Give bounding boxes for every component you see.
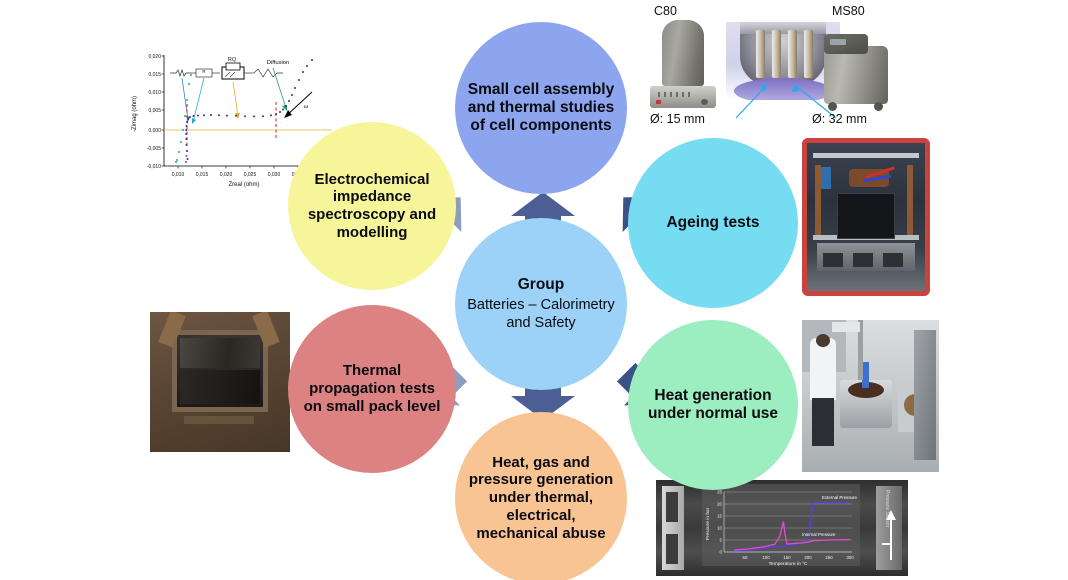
c80-diameter-label: Ø: 15 mm [650,112,705,126]
bubble-thermal-propagation[interactable]: Thermal propagation tests on small pack … [288,305,456,473]
svg-text:50: 50 [743,555,748,560]
bubble-eis[interactable]: Electrochemical impedance spectroscopy a… [288,122,456,290]
svg-text:150: 150 [783,555,791,560]
bubble-abuse-testing[interactable]: Heat, gas and pressure generation under … [455,412,627,580]
svg-text:ω: ω [304,104,308,110]
bubble-heat-generation[interactable]: Heat generation under normal use [628,320,798,490]
pressure-ylabel: Pressure in bar [705,507,711,540]
slide-canvas: 0,020 0,015 0,010 0,005 0,000 -0,005 -0,… [0,0,1068,580]
annotation-diffusion: Diffusion [267,60,289,66]
bubble-heat-generation-label: Heat generation under normal use [628,387,798,424]
bubble-eis-label: Electrochemical impedance spectroscopy a… [288,171,456,242]
svg-text:25: 25 [717,490,722,495]
annotation-rq: RQ [228,57,237,63]
svg-text:20: 20 [717,502,722,507]
svg-text:0,015: 0,015 [148,72,161,78]
svg-text:0,020: 0,020 [220,172,233,178]
svg-text:0,020: 0,020 [148,54,161,60]
bubble-ageing-tests[interactable]: Ageing tests [628,138,798,308]
svg-text:0,000: 0,000 [148,128,161,134]
svg-text:15: 15 [717,514,722,519]
svg-text:300: 300 [846,555,854,560]
svg-text:0,005: 0,005 [148,108,161,114]
svg-text:0,015: 0,015 [196,172,209,178]
ms80-diameter-label: Ø: 32 mm [812,112,867,126]
c80-label: C80 [654,4,677,18]
nyquist-ylabel: -Zimag (ohm) [132,96,138,132]
svg-text:0,010: 0,010 [172,172,185,178]
bubble-small-cell-label: Small cell assembly and thermal studies … [455,81,627,136]
svg-text:10: 10 [717,526,722,531]
bubble-group-center[interactable]: Group Batteries – Calorimetry and Safety [455,218,627,390]
svg-text:250: 250 [825,555,833,560]
svg-text:-0,010: -0,010 [147,164,161,170]
heat-generation-lab-photo [802,320,939,472]
ms80-label: MS80 [832,4,865,18]
group-subtitle: Batteries – Calorimetry and Safety [467,297,615,332]
bubble-ageing-label: Ageing tests [654,214,771,232]
svg-text:200: 200 [804,555,812,560]
external-pressure-legend: External Pressure [822,495,857,500]
nyquist-xlabel: Zreal (ohm) [228,182,259,188]
internal-pressure-legend: Internal Pressure [802,532,836,537]
svg-text:0,030: 0,030 [268,172,281,178]
ageing-test-chamber-photo [802,138,930,296]
pressure-xlabel: Temperature in °C [769,561,808,566]
svg-text:0,025: 0,025 [244,172,257,178]
bubble-small-cell-assembly[interactable]: Small cell assembly and thermal studies … [455,22,627,194]
pressure-sensor-arrow [882,504,900,564]
svg-text:-0,005: -0,005 [147,146,161,152]
bubble-abuse-label: Heat, gas and pressure generation under … [455,454,627,542]
thermal-propagation-result-photo [150,312,290,452]
svg-text:0,010: 0,010 [148,90,161,96]
pressure-chart-svg: 2520 1510 50 50100 150200 250300 Tempera… [702,484,860,566]
pressure-temperature-photo: Pressure Sensor 2520 1510 50 [656,480,908,576]
group-title: Group [467,276,615,294]
bubble-thermal-label: Thermal propagation tests on small pack … [288,362,456,415]
svg-text:100: 100 [762,555,770,560]
